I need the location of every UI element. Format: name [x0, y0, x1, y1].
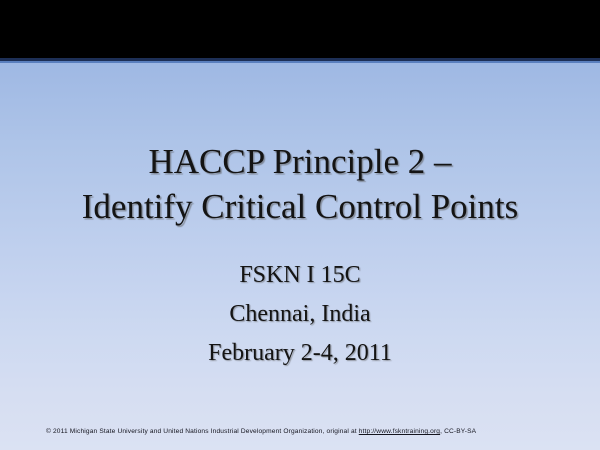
- fskntraining-link[interactable]: http://www.fskntraining.org: [359, 428, 440, 435]
- footer-text-after-link: , CC-BY-SA: [440, 428, 476, 435]
- subtitle-date: February 2-4, 2011: [0, 334, 600, 373]
- title-line-2: Identify Critical Control Points: [0, 185, 600, 230]
- banner-blue-rule: [0, 61, 600, 63]
- subtitle-block: FSKN I 15C Chennai, India February 2-4, …: [0, 256, 600, 373]
- page-title: HACCP Principle 2 – Identify Critical Co…: [0, 140, 600, 230]
- title-line-1: HACCP Principle 2 –: [148, 142, 451, 181]
- subtitle-location: Chennai, India: [0, 295, 600, 334]
- copyright-footer: © 2011 Michigan State University and Uni…: [46, 428, 576, 435]
- presentation-slide: USAIDINDIA FROM THE AMERICAN PEOPLE MICH…: [0, 0, 600, 450]
- logo-banner: [0, 0, 600, 58]
- footer-text-before-link: © 2011 Michigan State University and Uni…: [46, 428, 359, 435]
- subtitle-course-code: FSKN I 15C: [0, 256, 600, 295]
